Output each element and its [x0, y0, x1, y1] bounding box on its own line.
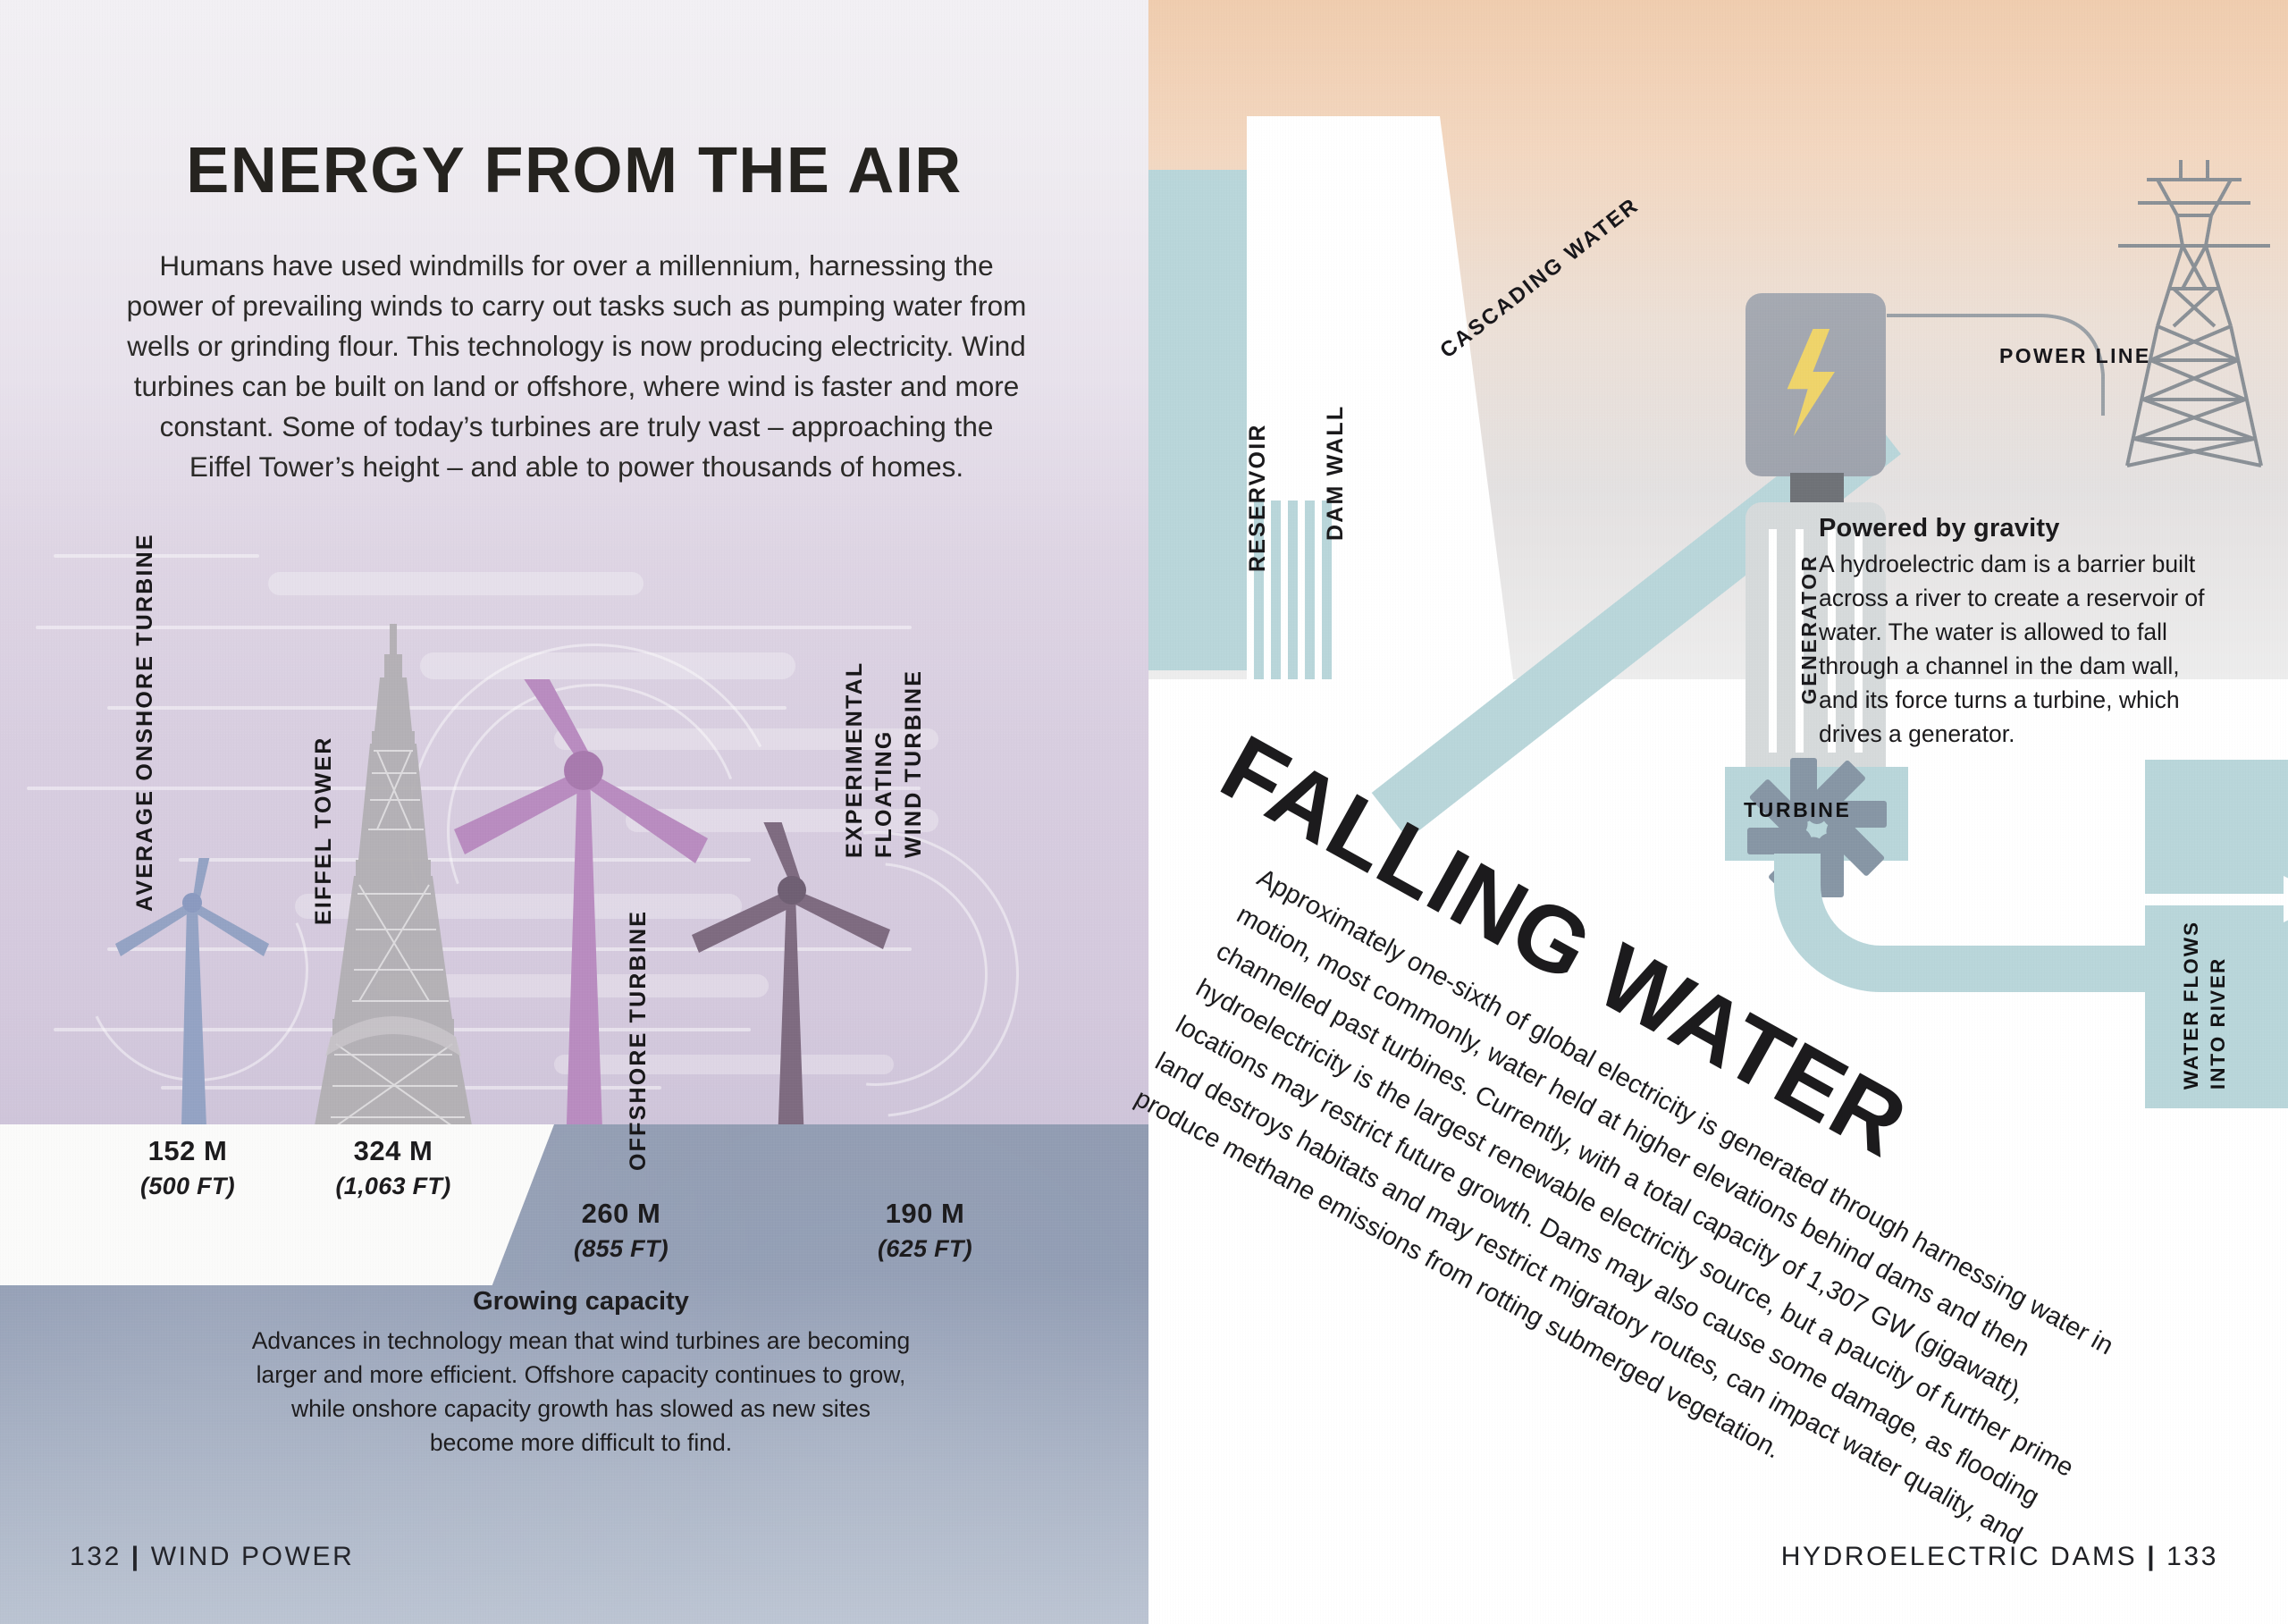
transmission-pylon-icon [2091, 156, 2288, 469]
growing-capacity-heading: Growing capacity [250, 1287, 912, 1317]
measurement-offshore: 260 M (855 FT) [523, 1198, 719, 1263]
footer-right-page-number: 133 [2166, 1542, 2218, 1571]
label-average-onshore-turbine: AVERAGE ONSHORE TURBINE [132, 572, 158, 912]
measurement-eiffel-metric: 324 M [290, 1135, 496, 1167]
intro-paragraph-left: Humans have used windmills for over a mi… [125, 246, 1028, 487]
footer-right-section: HYDROELECTRIC DAMS [1781, 1542, 2138, 1571]
measurement-offshore-imperial: (855 FT) [523, 1235, 719, 1263]
outflow-pipe [1774, 854, 2194, 997]
powered-by-gravity-caption: Powered by gravity A hydroelectric dam i… [1819, 514, 2221, 751]
measurement-eiffel: 324 M (1,063 FT) [290, 1135, 496, 1200]
label-turbine: TURBINE [1744, 798, 1851, 822]
measurement-floating-metric: 190 M [827, 1198, 1023, 1230]
measurement-floating-imperial: (625 FT) [827, 1235, 1023, 1263]
page-title-left: ENERGY FROM THE AIR [0, 134, 1148, 207]
measurement-onshore-metric: 152 M [98, 1135, 277, 1167]
footer-left-page-number: 132 [70, 1542, 122, 1571]
label-experimental-floating-wind-turbine: EXPERIMENTAL FLOATING WIND TURBINE [840, 563, 929, 858]
label-generator: GENERATOR [1797, 554, 1821, 704]
water-flow-arrow [2136, 885, 2288, 912]
label-eiffel-tower: EIFFEL TOWER [311, 737, 337, 925]
measurement-offshore-metric: 260 M [523, 1198, 719, 1230]
reservoir-water [1148, 170, 1247, 670]
powered-by-gravity-heading: Powered by gravity [1819, 514, 2221, 543]
label-offshore-turbine: OFFSHORE TURBINE [626, 903, 652, 1171]
footer-right-separator: | [2147, 1542, 2157, 1571]
growing-capacity-caption: Growing capacity Advances in technology … [250, 1287, 912, 1460]
powered-by-gravity-body: A hydroelectric dam is a barrier built a… [1819, 547, 2221, 751]
measurement-onshore: 152 M (500 FT) [98, 1135, 277, 1200]
book-spread: ENERGY FROM THE AIR Humans have used win… [0, 0, 2288, 1624]
footer-left-separator: | [131, 1542, 141, 1571]
onshore-turbine-graphic [94, 858, 299, 1135]
footer-left: 132 | WIND POWER [70, 1542, 354, 1572]
measurement-onshore-imperial: (500 FT) [98, 1173, 277, 1200]
measurement-floating: 190 M (625 FT) [827, 1198, 1023, 1263]
footer-left-section: WIND POWER [151, 1542, 355, 1571]
left-page: ENERGY FROM THE AIR Humans have used win… [0, 0, 1148, 1624]
measurement-eiffel-imperial: (1,063 FT) [290, 1173, 496, 1200]
label-water-flows-into-river: WATER FLOWS INTO RIVER [2178, 921, 2232, 1090]
footer-right: HYDROELECTRIC DAMS | 133 [1781, 1542, 2218, 1572]
growing-capacity-body: Advances in technology mean that wind tu… [250, 1324, 912, 1460]
